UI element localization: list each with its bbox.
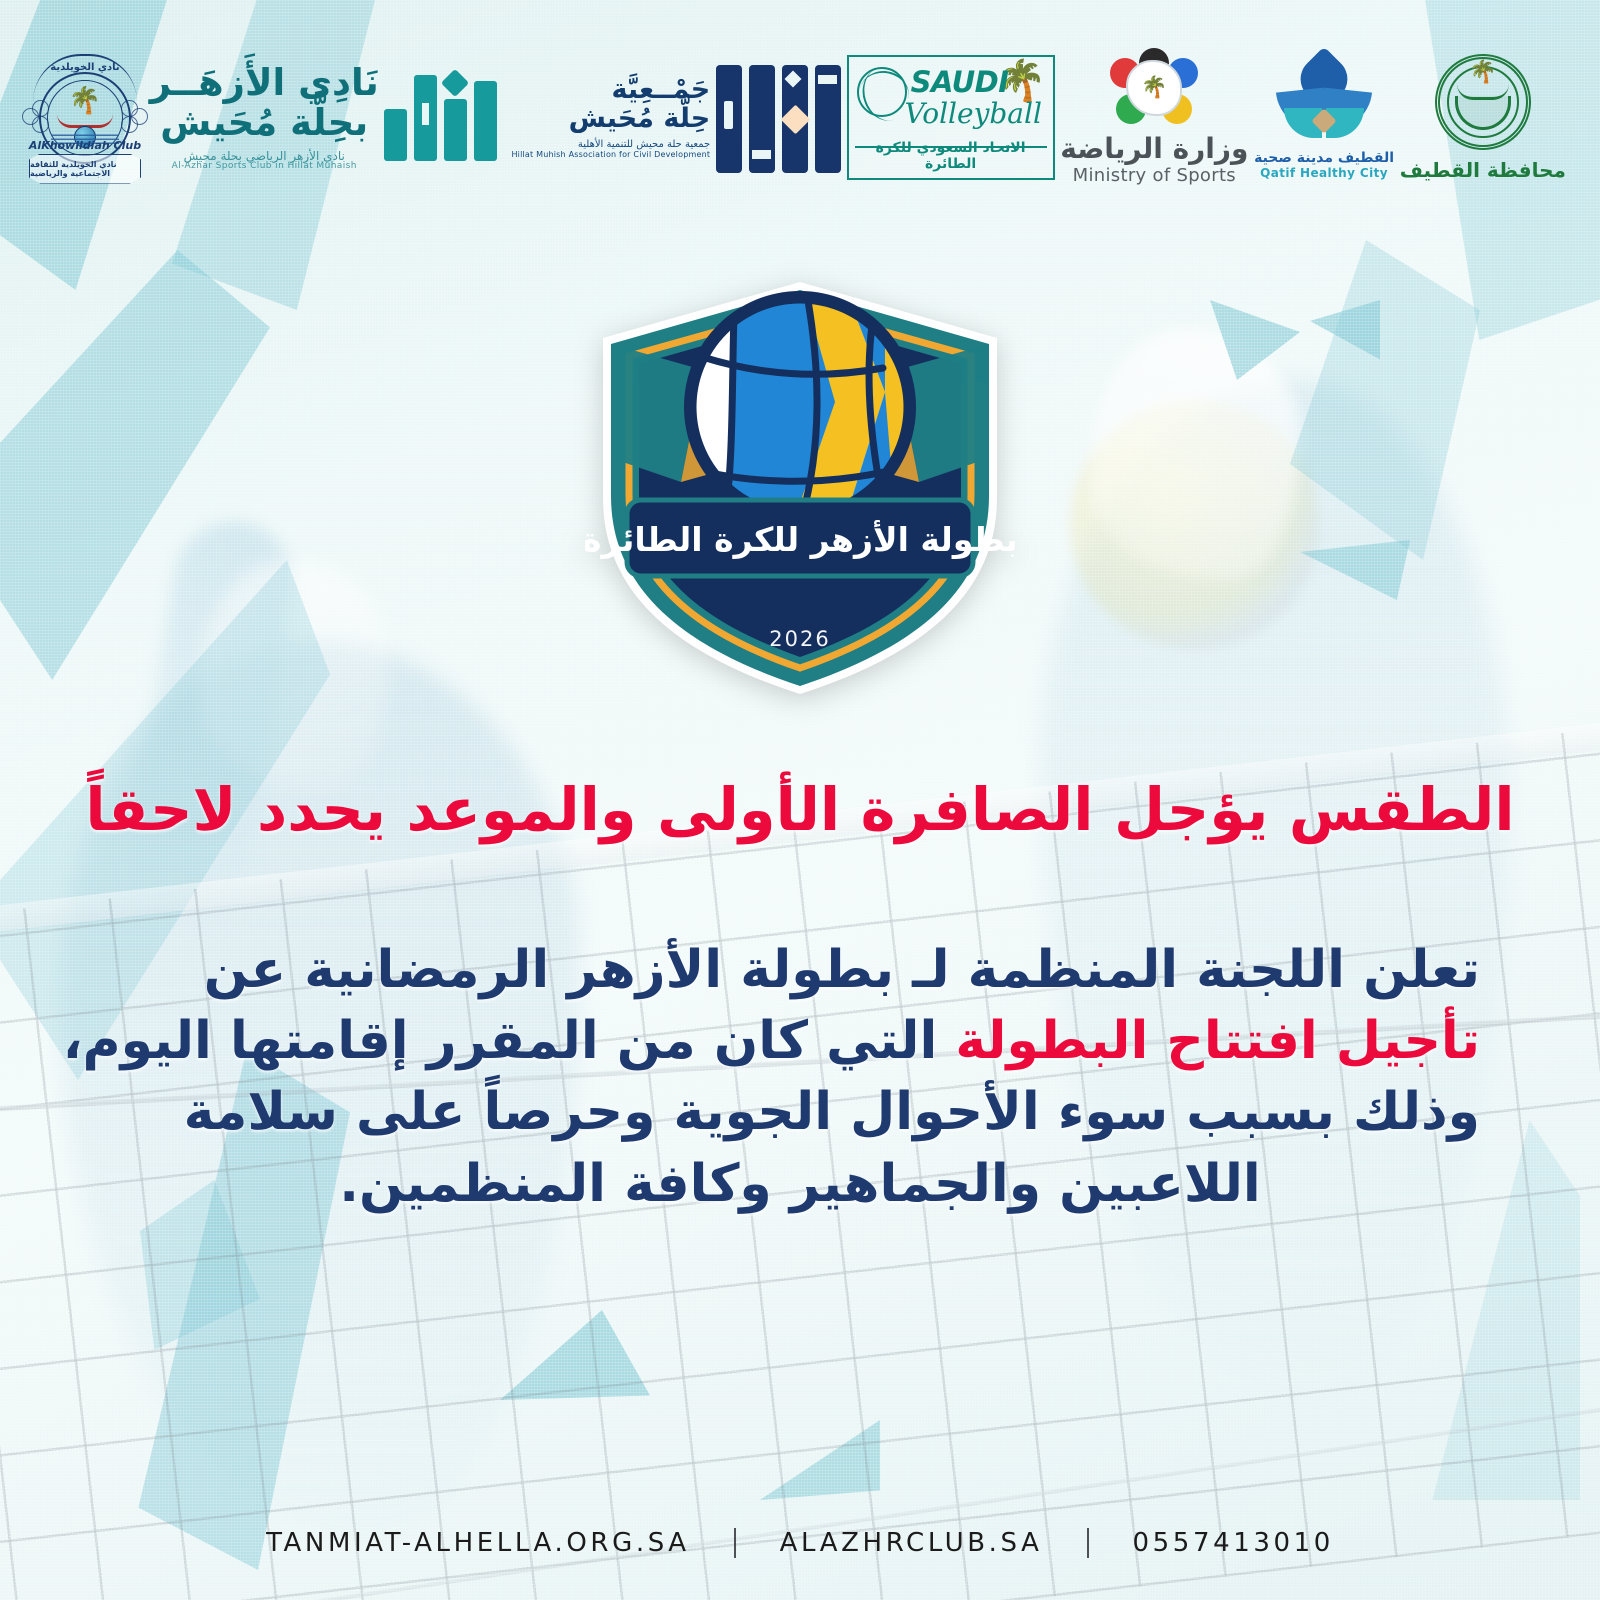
logo-qatif-healthy-city: القطيف مدينة صحية Qatif Healthy City [1254,56,1394,180]
badge-title-text: بطولة الأزهر للكرة الطائرة [585,519,1015,560]
body-line-2-rest: التي كان من المقرر إقامتها اليوم، [63,1011,937,1071]
announcement-body: تعلن اللجنة المنظمة لـ بطولة الأزهر الرم… [120,935,1480,1220]
badge-year-text: 2026 [769,627,830,651]
sponsor-logo-strip: نادي الخويلدية 🌴 AlKhowildiah Club نادي … [0,0,1600,235]
hm-bars-icon [384,75,497,161]
tournament-logo-badge: بطولة الأزهر للكرة الطائرة 2026 [585,272,1015,702]
player-silhouette-right [1040,380,1510,1400]
kufic-calligraphy-icon [716,63,841,173]
qatif-leaf-icon [1276,56,1372,142]
player-arm-left [118,513,302,947]
svf-name-ar: الاتحاد السعودي للكرة الطائرة [849,140,1053,172]
ministry-flower-icon: 🌴 [1106,50,1202,126]
qhc-name-ar: القطيف مدينة صحية [1254,150,1394,166]
governorate-emblem-icon: 🌴 [1435,54,1531,150]
gov-name-ar: محافظة القطيف [1400,158,1566,182]
footer-phone[interactable]: 0557413010 [1133,1528,1334,1558]
volleyball-icon [857,67,907,117]
hm-line-1: جَمْــعِيَّة [511,76,710,104]
logo-saudi-volleyball-federation: 🌴 SAUDI Volleyball الاتحاد السعودي للكرة… [847,55,1055,180]
svf-word-saudi: SAUDI [911,65,1009,99]
footer-contact-bar: TANMIAT-ALHELLA.ORG.SA ALAZHRCLUB.SA 055… [0,1528,1600,1558]
alkhowildiah-banner: نادي الخويلدية للثقافة الاجتماعية والريا… [29,154,141,184]
mos-name-ar: وزارة الرياضة [1060,132,1248,165]
body-line-4: اللاعبين والجماهير وكافة المنظمين. [120,1149,1480,1220]
headline-text: الطقس يؤجل الصافرة الأولى والموعد يحدد ل… [0,775,1600,844]
footer-separator-1 [734,1528,736,1558]
logo-tanmiat-alhella-kufic [716,63,841,173]
poster-canvas: نادي الخويلدية 🌴 AlKhowildiah Club نادي … [0,0,1600,1600]
mos-name-en: Ministry of Sports [1060,165,1248,186]
body-line-1: تعلن اللجنة المنظمة لـ بطولة الأزهر الرم… [120,935,1480,1006]
footer-website-primary[interactable]: TANMIAT-ALHELLA.ORG.SA [266,1528,690,1558]
logo-al-azhar-club: نَادِي الأَزهَــر بحِلَّة مُحَيش نادي ال… [150,64,379,171]
azhar-sub-en: Al-Azhar Sports Club in Hillat Muhaish [150,162,379,171]
azhar-sub-ar: نادي الأزهر الرياضي بحلة محيش [150,150,379,162]
body-line-3: وذلك بسبب سوء الأحوال الجوية وحرصاً على … [120,1077,1480,1148]
hm-sub-en: Hillat Muhish Association for Civil Deve… [511,151,710,159]
palm-tree-icon: 🌴 [1141,77,1167,98]
body-line-2: تأجيل افتتاح البطولة التي كان من المقرر … [120,1006,1480,1077]
logo-qatif-governorate: 🌴 محافظة القطيف [1400,54,1566,182]
logo-ministry-of-sports: 🌴 وزارة الرياضة Ministry of Sports [1060,50,1248,186]
background-volleyball [1070,400,1320,650]
body-line-2-highlight: تأجيل افتتاح البطولة [955,1011,1480,1071]
logo-hillat-muhaish-association: جَمْــعِيَّة حِلَّة مُحَيش جمعية حلة محي… [384,75,710,161]
azhar-line-2: بحِلَّة مُحَيش [150,104,379,142]
footer-separator-2 [1087,1528,1089,1558]
qhc-name-en: Qatif Healthy City [1254,166,1394,180]
azhar-line-1: نَادِي الأَزهَــر [150,64,379,102]
hand-silhouette-left [200,560,390,790]
footer-website-secondary[interactable]: ALAZHRCLUB.SA [780,1528,1043,1558]
alkhowildiah-banner-text: نادي الخويلدية للثقافة الاجتماعية والريا… [30,160,140,178]
logo-alkhowildiah-club: نادي الخويلدية 🌴 AlKhowildiah Club نادي … [26,48,144,188]
hm-line-2: حِلَّة مُحَيش [511,105,710,133]
svf-word-volleyball: Volleyball [905,97,1042,130]
palm-tree-icon: 🌴 [69,88,101,114]
hand-silhouette-right [1090,330,1300,580]
alkhowildiah-name-en: AlKhowildiah Club [26,139,144,152]
